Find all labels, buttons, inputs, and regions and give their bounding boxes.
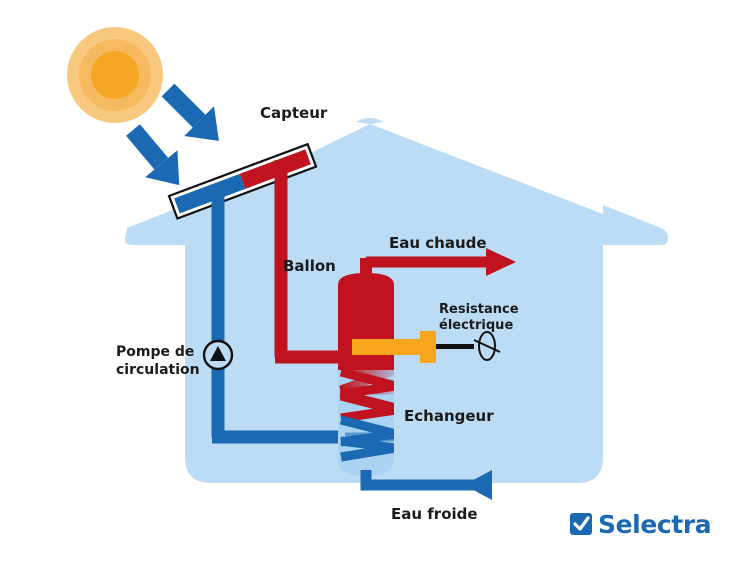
house-shape: [125, 118, 668, 483]
label-ballon: Ballon: [283, 257, 336, 275]
selectra-logo: Selectra: [570, 510, 711, 539]
label-eau-chaude: Eau chaude: [389, 234, 487, 252]
label-resistance-line2: électrique: [439, 318, 513, 333]
label-resistance-line1: Resistance: [439, 302, 519, 317]
label-echangeur: Echangeur: [404, 407, 494, 425]
heat-exchanger-coil: [341, 370, 398, 457]
selectra-wordmark: Selectra: [598, 510, 711, 539]
label-pompe-line2: circulation: [116, 362, 200, 378]
sun-icon: [67, 27, 163, 123]
pump-icon: [204, 341, 232, 369]
label-eau-froide: Eau froide: [391, 505, 478, 523]
label-capteur: Capteur: [260, 104, 328, 122]
check-icon: [570, 513, 592, 535]
solar-water-heater-diagram: Capteur Ballon Eau chaude Resistance éle…: [0, 0, 750, 568]
label-pompe-line1: Pompe de: [116, 344, 194, 360]
diagram-canvas: Capteur Ballon Eau chaude Resistance éle…: [0, 0, 750, 568]
